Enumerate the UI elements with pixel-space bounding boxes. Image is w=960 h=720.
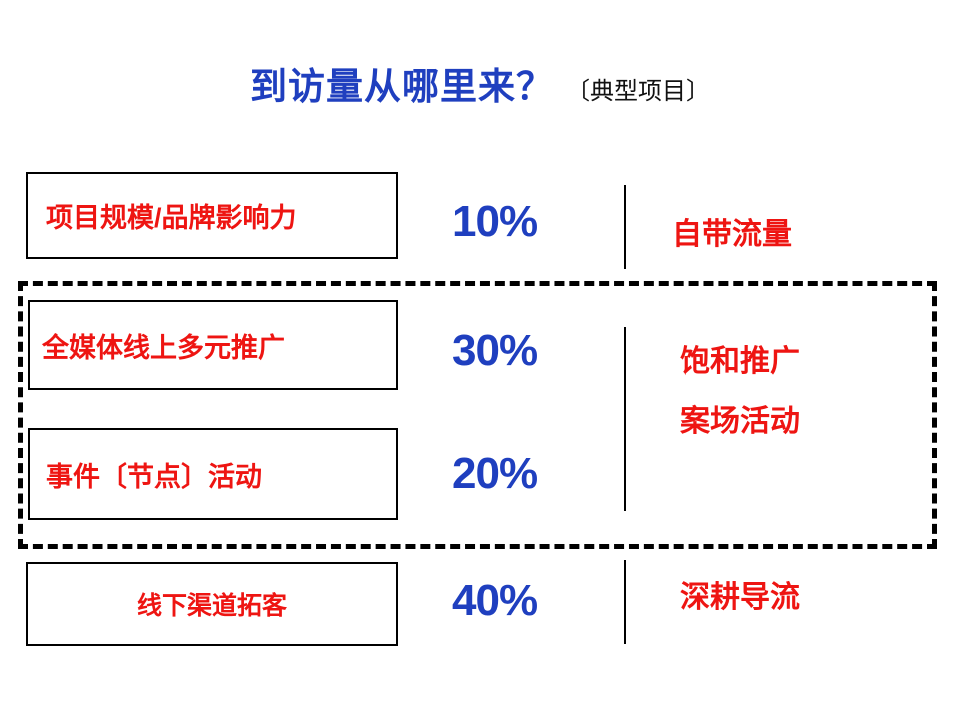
percent-value-3: 20%	[452, 449, 537, 499]
page-title: 到访量从哪里来？〔典型项目〕	[0, 56, 960, 110]
category-label-2-line-2: 案场活动	[680, 392, 800, 452]
source-box-2-label: 全媒体线上多元推广	[30, 326, 396, 365]
divider-rule-2	[624, 327, 626, 511]
source-box-1-label: 项目规模/品牌影响力	[28, 196, 396, 235]
percent-value-4: 40%	[452, 576, 537, 626]
percent-value-2: 30%	[452, 326, 537, 376]
source-box-2[interactable]: 全媒体线上多元推广	[28, 300, 398, 390]
divider-rule-3	[624, 560, 626, 644]
percent-value-1: 10%	[452, 197, 537, 247]
slide-canvas: 到访量从哪里来？〔典型项目〕 项目规模/品牌影响力 10% 自带流量 全媒体线上…	[0, 0, 960, 720]
category-label-1: 自带流量	[672, 209, 792, 253]
source-box-1[interactable]: 项目规模/品牌影响力	[26, 172, 398, 259]
source-box-3[interactable]: 事件〔节点〕活动	[28, 428, 398, 520]
category-label-2-line-1: 饱和推广	[680, 345, 800, 378]
page-title-subtitle: 〔典型项目〕	[566, 78, 710, 105]
divider-rule-1	[624, 185, 626, 269]
source-box-3-label: 事件〔节点〕活动	[30, 455, 396, 494]
category-label-2: 饱和推广 案场活动	[680, 332, 800, 452]
category-label-3: 深耕导流	[680, 572, 800, 616]
source-box-4-label: 线下渠道拓客	[28, 586, 396, 622]
page-title-main: 到访量从哪里来？	[250, 66, 554, 107]
source-box-4[interactable]: 线下渠道拓客	[26, 562, 398, 646]
